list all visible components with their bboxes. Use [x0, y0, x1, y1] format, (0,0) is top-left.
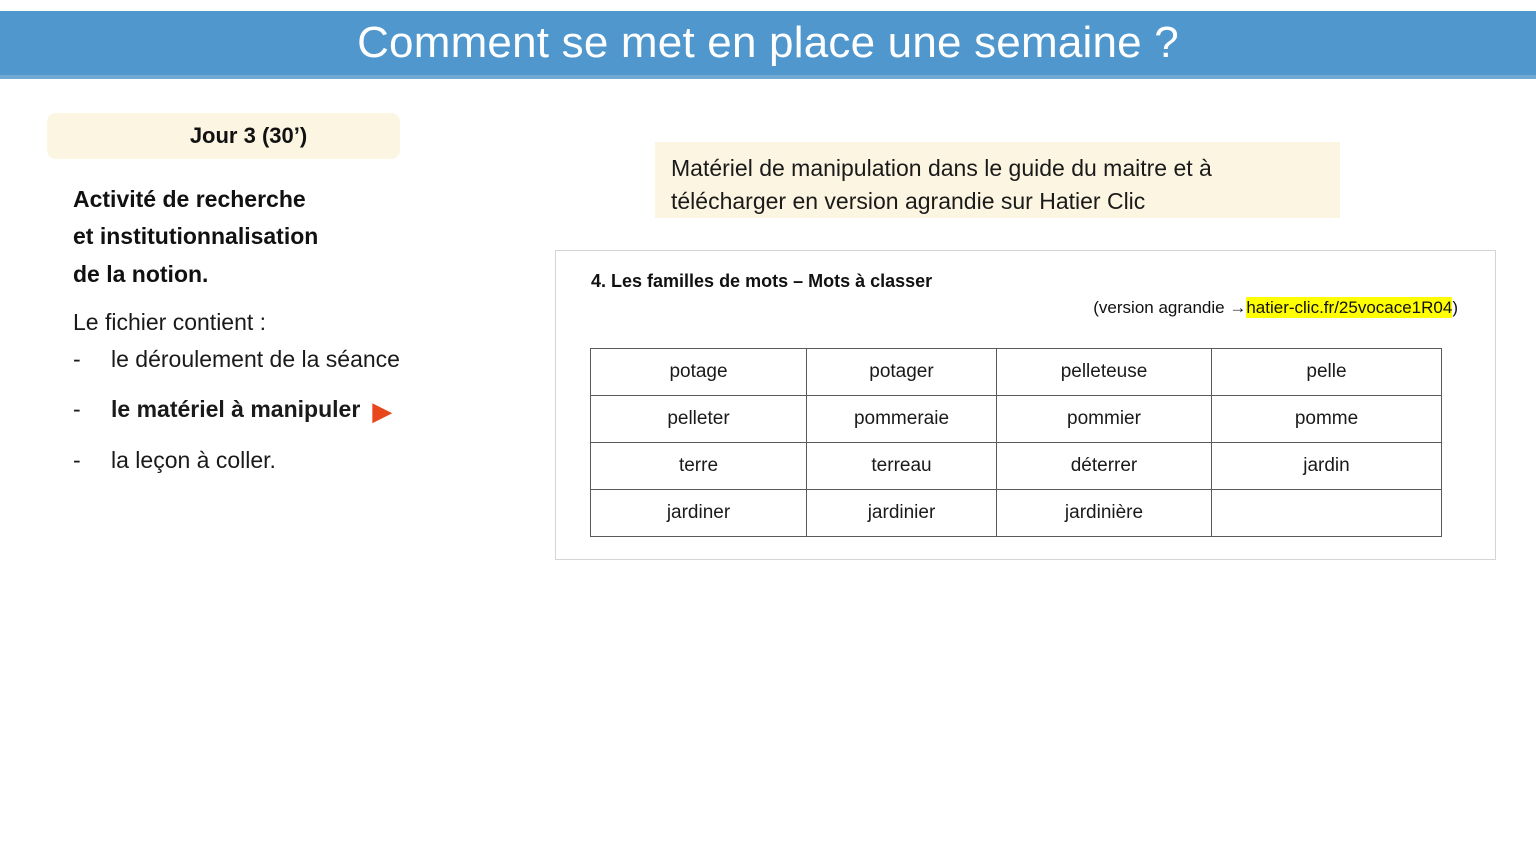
page-title: Comment se met en place une semaine ?	[357, 21, 1179, 65]
list-item-label: le déroulement de la séance	[111, 348, 400, 371]
table-cell: jardiner	[591, 490, 807, 537]
left-content-column: Jour 3 (30’) Activité de recherche et in…	[47, 113, 567, 498]
note-suffix: )	[1452, 298, 1458, 317]
activity-line-1: Activité de recherche	[73, 181, 567, 218]
activity-heading: Activité de recherche et institutionnali…	[73, 181, 567, 293]
word-families-table: potage potager pelleteuse pelle pelleter…	[590, 348, 1442, 537]
worksheet-preview-card: 4. Les familles de mots – Mots à classer…	[555, 250, 1496, 560]
file-contents-list: - le déroulement de la séance - le matér…	[73, 348, 567, 472]
material-callout-text: Matériel de manipulation dans le guide d…	[671, 152, 1326, 217]
hatier-clic-link[interactable]: hatier-clic.fr/25vocace1R04	[1246, 297, 1452, 318]
material-callout: Matériel de manipulation dans le guide d…	[655, 142, 1340, 218]
table-cell: jardinier	[807, 490, 997, 537]
list-item: - la leçon à coller.	[73, 449, 567, 472]
note-prefix: (version agrandie →	[1093, 298, 1246, 317]
table-row: pelleter pommeraie pommier pomme	[591, 396, 1442, 443]
table-row: jardiner jardinier jardinière	[591, 490, 1442, 537]
title-banner-underline	[0, 75, 1536, 79]
table-row: potage potager pelleteuse pelle	[591, 349, 1442, 396]
table-cell: pelle	[1212, 349, 1442, 396]
table-cell: potager	[807, 349, 997, 396]
activity-line-2: et institutionnalisation	[73, 218, 567, 255]
activity-line-3: de la notion.	[73, 256, 567, 293]
list-item: - le matériel à manipuler ▶	[73, 397, 567, 423]
list-item-label: la leçon à coller.	[111, 449, 276, 472]
table-cell: pelleteuse	[997, 349, 1212, 396]
list-item: - le déroulement de la séance	[73, 348, 567, 371]
table-cell: pommier	[997, 396, 1212, 443]
table-cell: déterrer	[997, 443, 1212, 490]
table-cell: pomme	[1212, 396, 1442, 443]
table-cell: potage	[591, 349, 807, 396]
table-cell: terreau	[807, 443, 997, 490]
bullet-dash-icon: -	[73, 398, 111, 421]
table-cell: pommeraie	[807, 396, 997, 443]
day-badge: Jour 3 (30’)	[47, 113, 400, 159]
worksheet-heading: 4. Les familles de mots – Mots à classer	[591, 271, 932, 292]
bullet-dash-icon: -	[73, 449, 111, 472]
table-cell: jardinière	[997, 490, 1212, 537]
table-row: terre terreau déterrer jardin	[591, 443, 1442, 490]
table-cell: terre	[591, 443, 807, 490]
slide-title-banner: Comment se met en place une semaine ?	[0, 11, 1536, 75]
table-cell: pelleter	[591, 396, 807, 443]
list-item-label: le matériel à manipuler	[111, 398, 360, 421]
worksheet-enlarged-version-note: (version agrandie →hatier-clic.fr/25voca…	[1093, 298, 1458, 318]
bullet-dash-icon: -	[73, 348, 111, 371]
table-cell: jardin	[1212, 443, 1442, 490]
day-badge-label: Jour 3 (30’)	[140, 123, 307, 149]
table-cell-empty	[1212, 490, 1442, 537]
file-contents-intro: Le fichier contient :	[73, 309, 567, 336]
play-arrow-icon: ▶	[372, 398, 392, 424]
